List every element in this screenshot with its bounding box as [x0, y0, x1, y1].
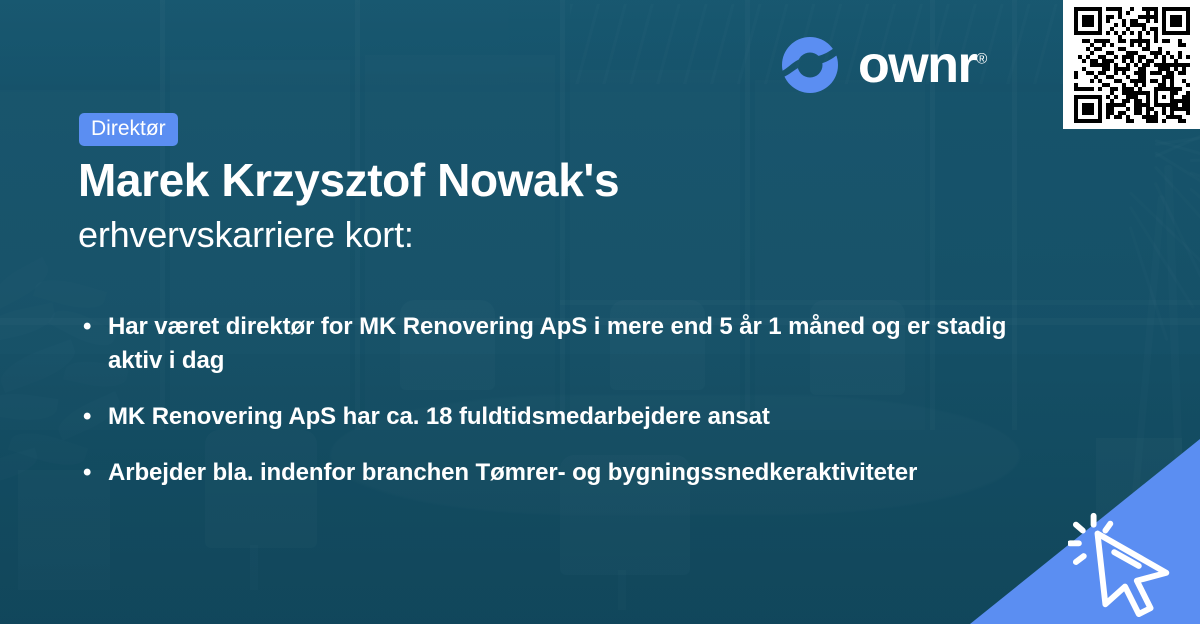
click-cursor-icon [1068, 506, 1186, 618]
subtitle: erhvervskarriere kort: [78, 213, 978, 256]
business-career-card: ownr® Direktør Marek Krzysztof Nowak's e… [0, 0, 1200, 624]
qr-code-panel[interactable] [1063, 0, 1200, 129]
brand-name: ownr [858, 36, 976, 94]
brand-wordmark: ownr® [858, 39, 987, 91]
qr-code[interactable] [1074, 7, 1190, 123]
list-item: Arbejder bla. indenfor branchen Tømrer- … [80, 456, 1060, 490]
career-facts-list: Har været direktør for MK Renovering ApS… [80, 310, 1060, 512]
list-item: Har været direktør for MK Renovering ApS… [80, 310, 1060, 378]
registered-mark: ® [976, 51, 987, 68]
brand-logo: ownr® [778, 33, 987, 97]
ownr-circle-mark-icon [778, 33, 842, 97]
page-title: Marek Krzysztof Nowak's erhvervskarriere… [78, 155, 978, 256]
list-item: MK Renovering ApS har ca. 18 fuldtidsmed… [80, 400, 1060, 434]
person-name: Marek Krzysztof Nowak's [78, 155, 978, 207]
role-badge: Direktør [79, 113, 178, 146]
